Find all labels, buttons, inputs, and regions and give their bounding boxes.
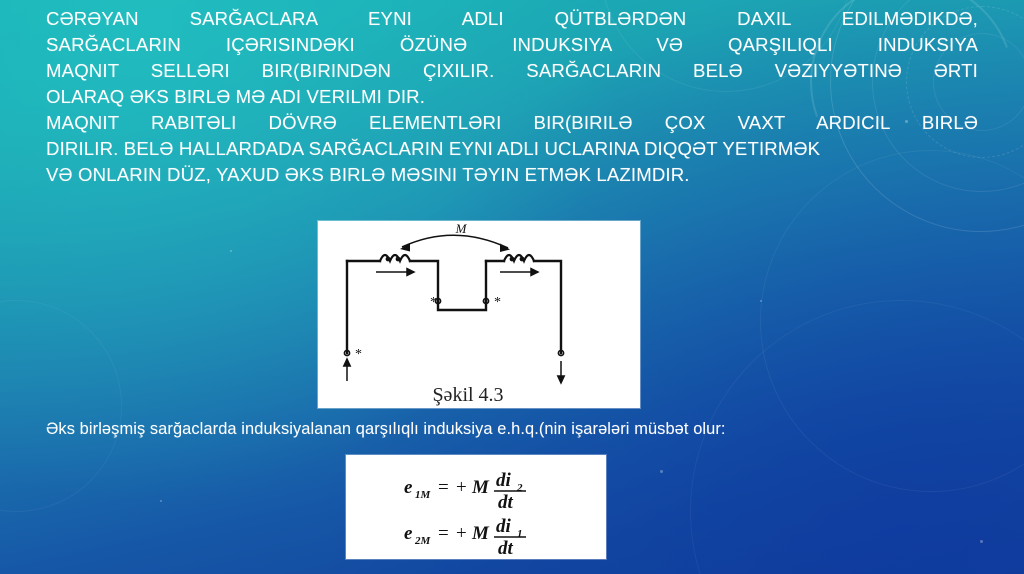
mutual-inductance-label: M (455, 221, 468, 236)
sparkle-icon (980, 540, 983, 543)
formula-numerator-sub: 2 (516, 482, 523, 494)
headline-line-6: DIRILIR. BELƏ HALLARDADA SARĞACLARIN EYN… (46, 136, 978, 162)
headline-line-7: VƏ ONLARIN DÜZ, YAXUD ƏKS BIRLƏ MƏSINI T… (46, 162, 978, 188)
sparkle-icon (660, 470, 663, 473)
formula-lhs-base: e (404, 477, 413, 498)
headline-line-1: CƏRƏYAN SARĞACLARA EYNI ADLI QÜTBLƏRDƏN … (46, 6, 978, 32)
formula-row-2: e 2M = + M di 1 dt (404, 516, 526, 559)
sparkle-icon (230, 250, 232, 252)
formula-numerator-sub: 1 (517, 528, 523, 540)
polarity-asterisk: * (355, 347, 362, 362)
formula-numerator-base: di (496, 470, 512, 491)
headline-line-5: MAQNIT RABITƏLI DÖVRƏ ELEMENTLƏRI BIR(BI… (46, 110, 978, 136)
formula-row-1: e 1M = + M di 2 dt (404, 470, 526, 513)
headline-line-3: MAQNIT SELLƏRI BIR(BIRINDƏN ÇIXILIR. SAR… (46, 58, 978, 84)
subtext-line: Əks birləşmiş sarğaclarda induksiyalanan… (46, 418, 978, 440)
formula-numerator-base: di (496, 516, 512, 537)
formula-sign: + (456, 523, 467, 544)
sparkle-icon (160, 500, 162, 502)
decorative-circle-icon (760, 150, 1024, 492)
formula-lhs-base: e (404, 523, 413, 544)
circuit-diagram-image: M * * * Şəkil 4.3 (318, 221, 640, 408)
formula-equals: = (438, 477, 449, 498)
formula-coefficient: M (471, 477, 490, 498)
polarity-asterisk: * (494, 295, 501, 310)
slide-canvas: CƏRƏYAN SARĞACLARA EYNI ADLI QÜTBLƏRDƏN … (0, 0, 1024, 574)
formula-lhs-sub: 1M (415, 489, 432, 501)
headline-text-block: CƏRƏYAN SARĞACLARA EYNI ADLI QÜTBLƏRDƏN … (46, 6, 978, 188)
sparkle-icon (760, 300, 762, 302)
formula-coefficient: M (471, 523, 490, 544)
headline-line-4: OLARAQ ƏKS BIRLƏ MƏ ADI VERILMI DIR. (46, 84, 978, 110)
formula-image: e 1M = + M di 2 dt e 2M = + M di (346, 455, 606, 559)
formula-denominator: dt (498, 538, 514, 559)
formula-lhs-sub: 2M (414, 535, 432, 547)
formula-denominator: dt (498, 492, 514, 513)
figure-caption: Şəkil 4.3 (432, 384, 503, 406)
polarity-asterisk: * (430, 295, 437, 310)
decorative-circle-icon (0, 300, 122, 512)
headline-line-2: SARĞACLARIN IÇƏRISINDƏKI ÖZÜNƏ INDUKSIYA… (46, 32, 978, 58)
formula-sign: + (456, 477, 467, 498)
formula-equals: = (438, 523, 449, 544)
